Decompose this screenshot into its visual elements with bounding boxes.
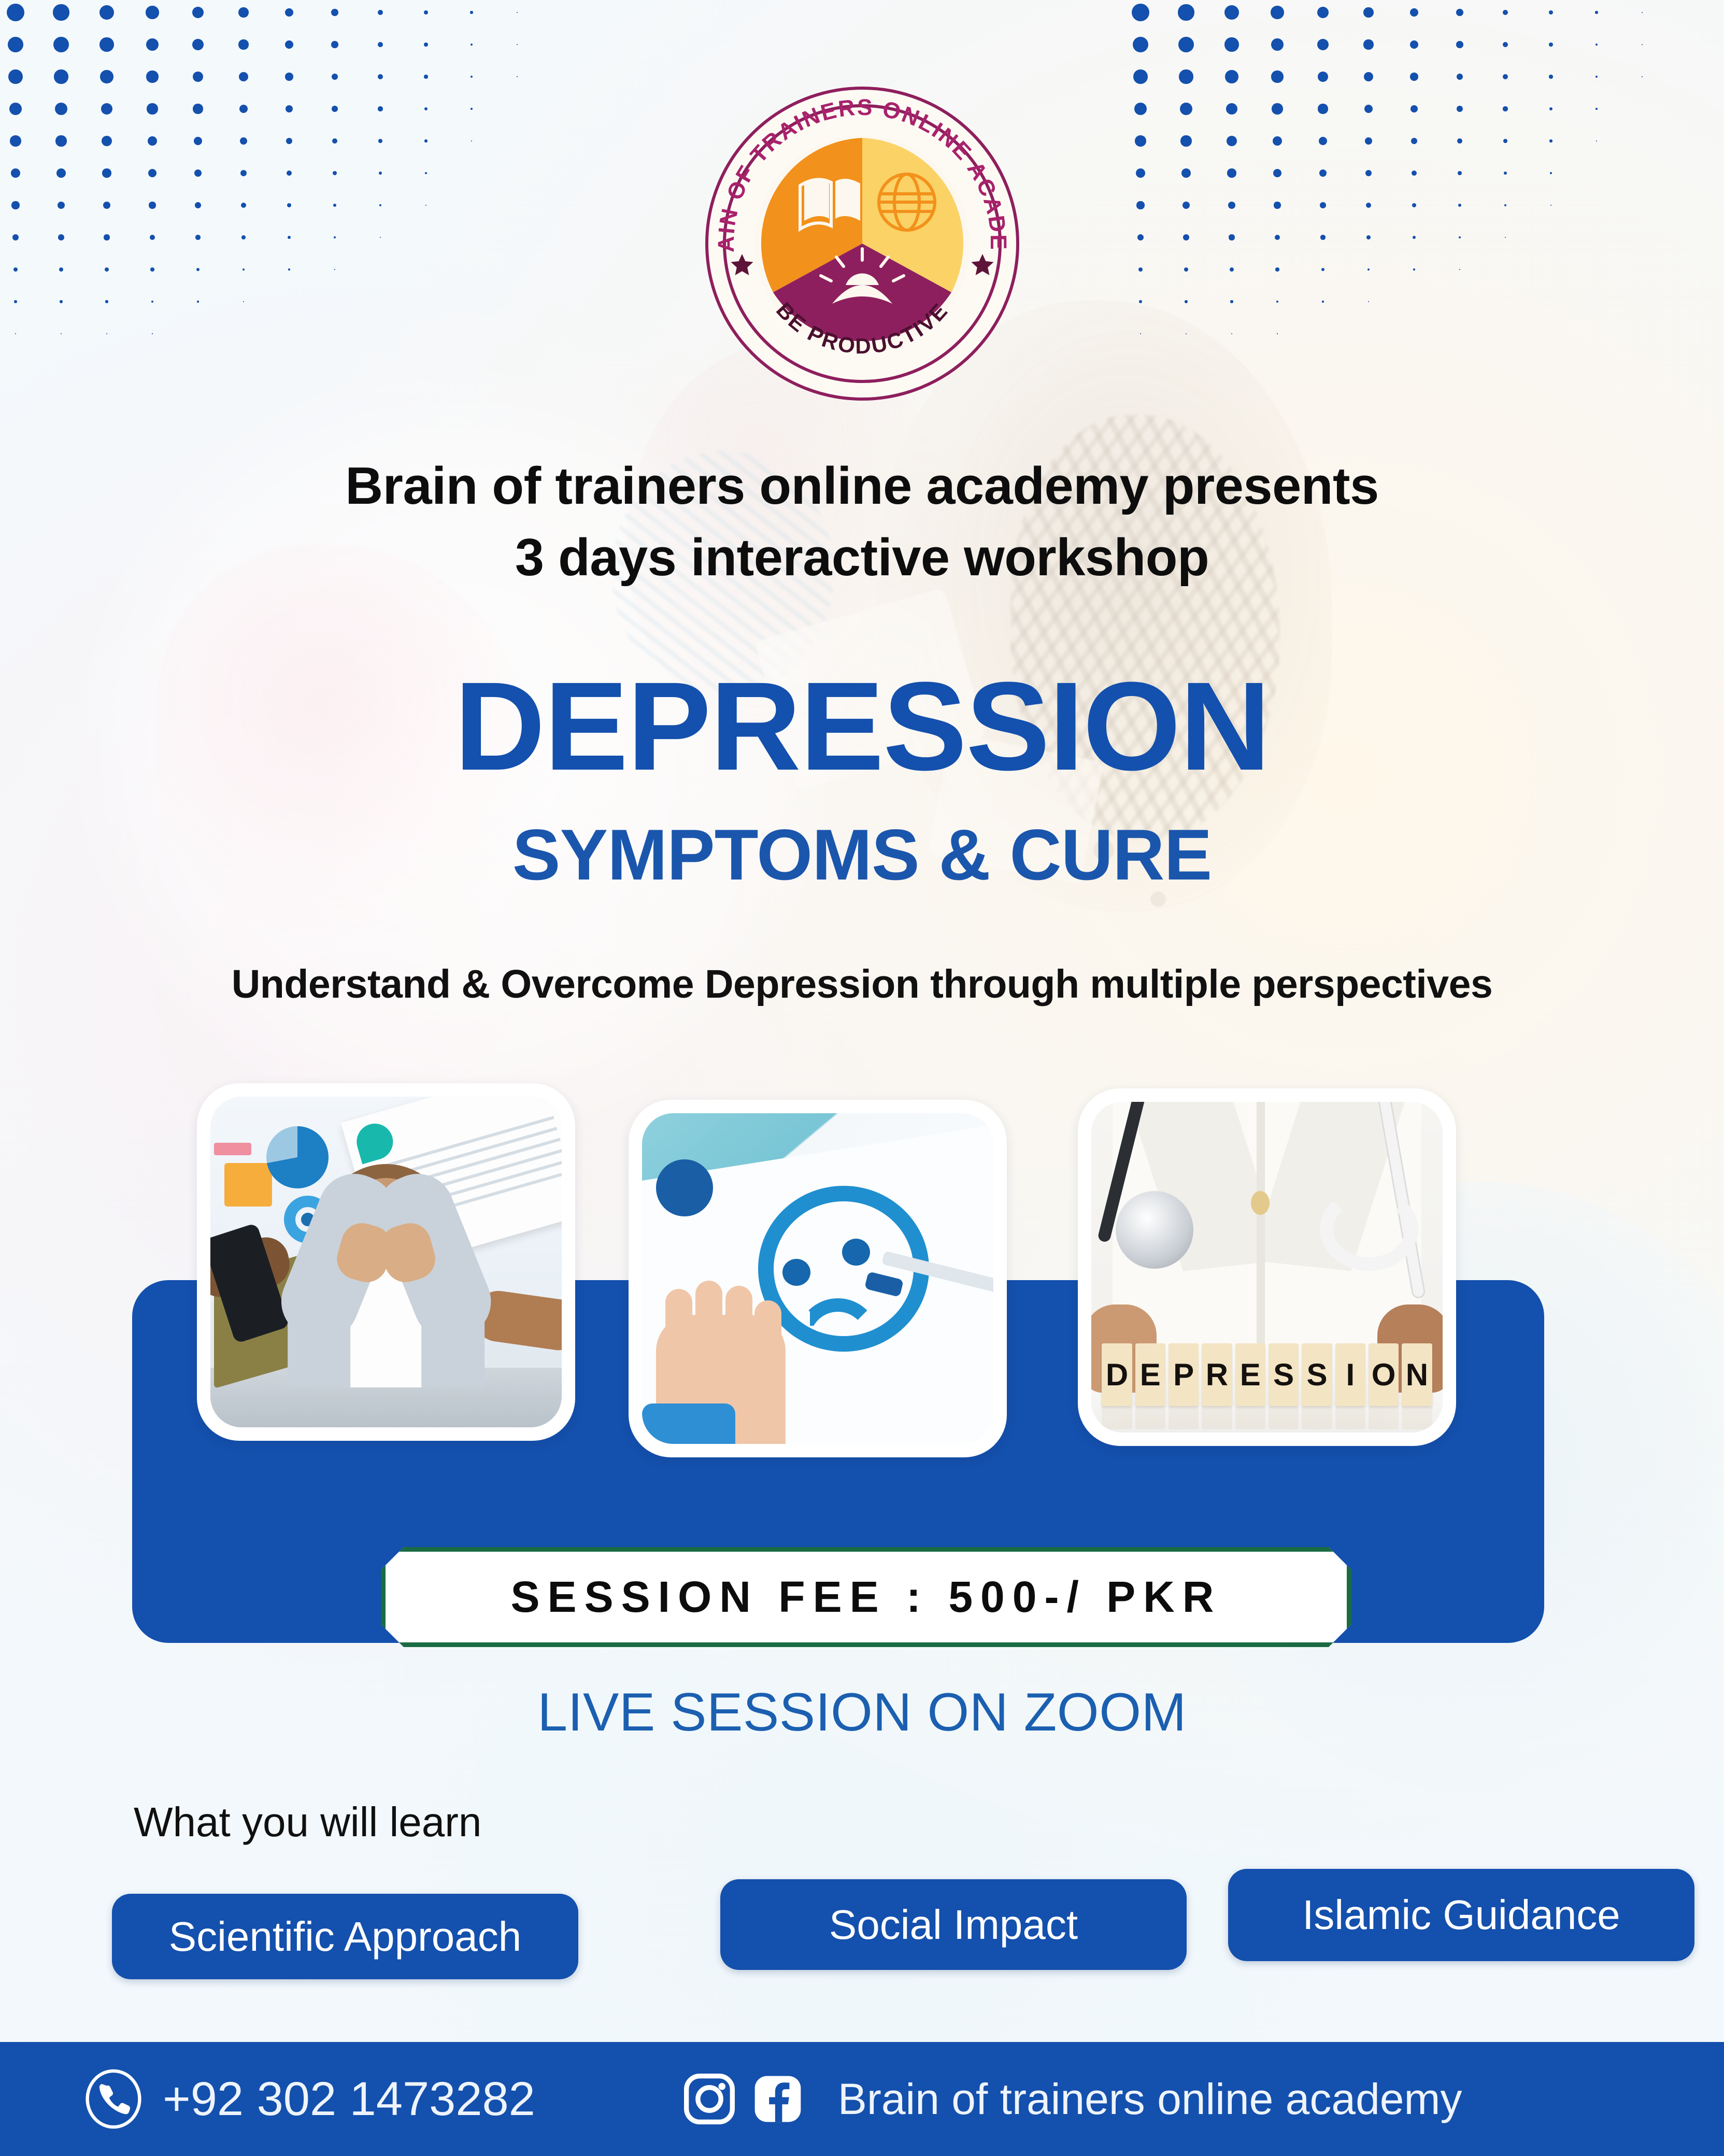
letter-tile: I	[1335, 1343, 1365, 1406]
academy-logo: BRAIN OF TRAINERS ONLINE ACADEMY BE PROD…	[696, 78, 1028, 409]
learn-pill-islamic-guidance[interactable]: Islamic Guidance	[1228, 1869, 1694, 1961]
page-subtitle: SYMPTOMS & CURE	[0, 819, 1724, 891]
letter-tile: E	[1135, 1343, 1165, 1406]
session-fee-label: SESSION FEE : 500-/ PKR	[511, 1572, 1222, 1622]
letter-tile: P	[1169, 1343, 1199, 1406]
letter-tile: O	[1369, 1343, 1399, 1406]
letter-tile: N	[1402, 1343, 1432, 1406]
phone-icon	[83, 2068, 144, 2130]
photo-card-row: DEPRESSION	[0, 1083, 1724, 1456]
stressed-woman-at-desk-image	[210, 1097, 562, 1427]
header-line-2: 3 days interactive workshop	[0, 528, 1724, 588]
live-session-label: LIVE SESSION ON ZOOM	[0, 1682, 1724, 1743]
halftone-dots-top-right	[1113, 0, 1724, 290]
tagline: Understand & Overcome Depression through…	[0, 961, 1724, 1008]
letter-tile: D	[1102, 1343, 1132, 1406]
footer-contact-bar: +92 302 1473282 Brain of trainers online…	[0, 2042, 1724, 2156]
footer-social-handle: Brain of trainers online academy	[838, 2074, 1462, 2124]
footer-phone-number: +92 302 1473282	[163, 2072, 535, 2126]
footer-phone-group[interactable]: +92 302 1473282	[83, 2068, 535, 2130]
learn-pill-label: Scientific Approach	[169, 1913, 521, 1961]
facebook-icon[interactable]	[749, 2070, 807, 2128]
poster-canvas: BRAIN OF TRAINERS ONLINE ACADEMY BE PROD…	[0, 0, 1724, 2156]
letter-tiles: DEPRESSION	[1102, 1343, 1432, 1406]
page-title: DEPRESSION	[0, 663, 1724, 789]
learn-pill-scientific-approach[interactable]: Scientific Approach	[112, 1894, 578, 1979]
photo-card-doctor-tiles: DEPRESSION	[1078, 1088, 1456, 1446]
doctor-depression-tiles-image: DEPRESSION	[1091, 1102, 1443, 1432]
instagram-icon[interactable]	[680, 2070, 738, 2128]
learn-pill-label: Social Impact	[829, 1901, 1078, 1949]
painted-sad-face-image	[642, 1113, 993, 1444]
learn-pill-social-impact[interactable]: Social Impact	[720, 1879, 1187, 1970]
footer-social-group[interactable]: Brain of trainers online academy	[680, 2070, 1462, 2128]
letter-tile: S	[1302, 1343, 1332, 1406]
photo-card-stressed-woman	[197, 1083, 575, 1441]
header-line-1: Brain of trainers online academy present…	[0, 456, 1724, 516]
letter-tile: E	[1235, 1343, 1265, 1406]
academy-logo-svg: BRAIN OF TRAINERS ONLINE ACADEMY BE PROD…	[696, 78, 1028, 409]
learn-pill-row: Scientific Approach Social Impact Islami…	[109, 1875, 1612, 1979]
header-block: Brain of trainers online academy present…	[0, 456, 1724, 588]
learn-heading: What you will learn	[134, 1798, 481, 1846]
letter-tile: S	[1269, 1343, 1299, 1406]
photo-card-sad-face	[629, 1100, 1007, 1457]
halftone-dots-top-left	[0, 0, 611, 290]
session-fee-plate: SESSION FEE : 500-/ PKR	[381, 1547, 1351, 1647]
letter-tile: R	[1202, 1343, 1232, 1406]
learn-pill-label: Islamic Guidance	[1302, 1891, 1620, 1939]
